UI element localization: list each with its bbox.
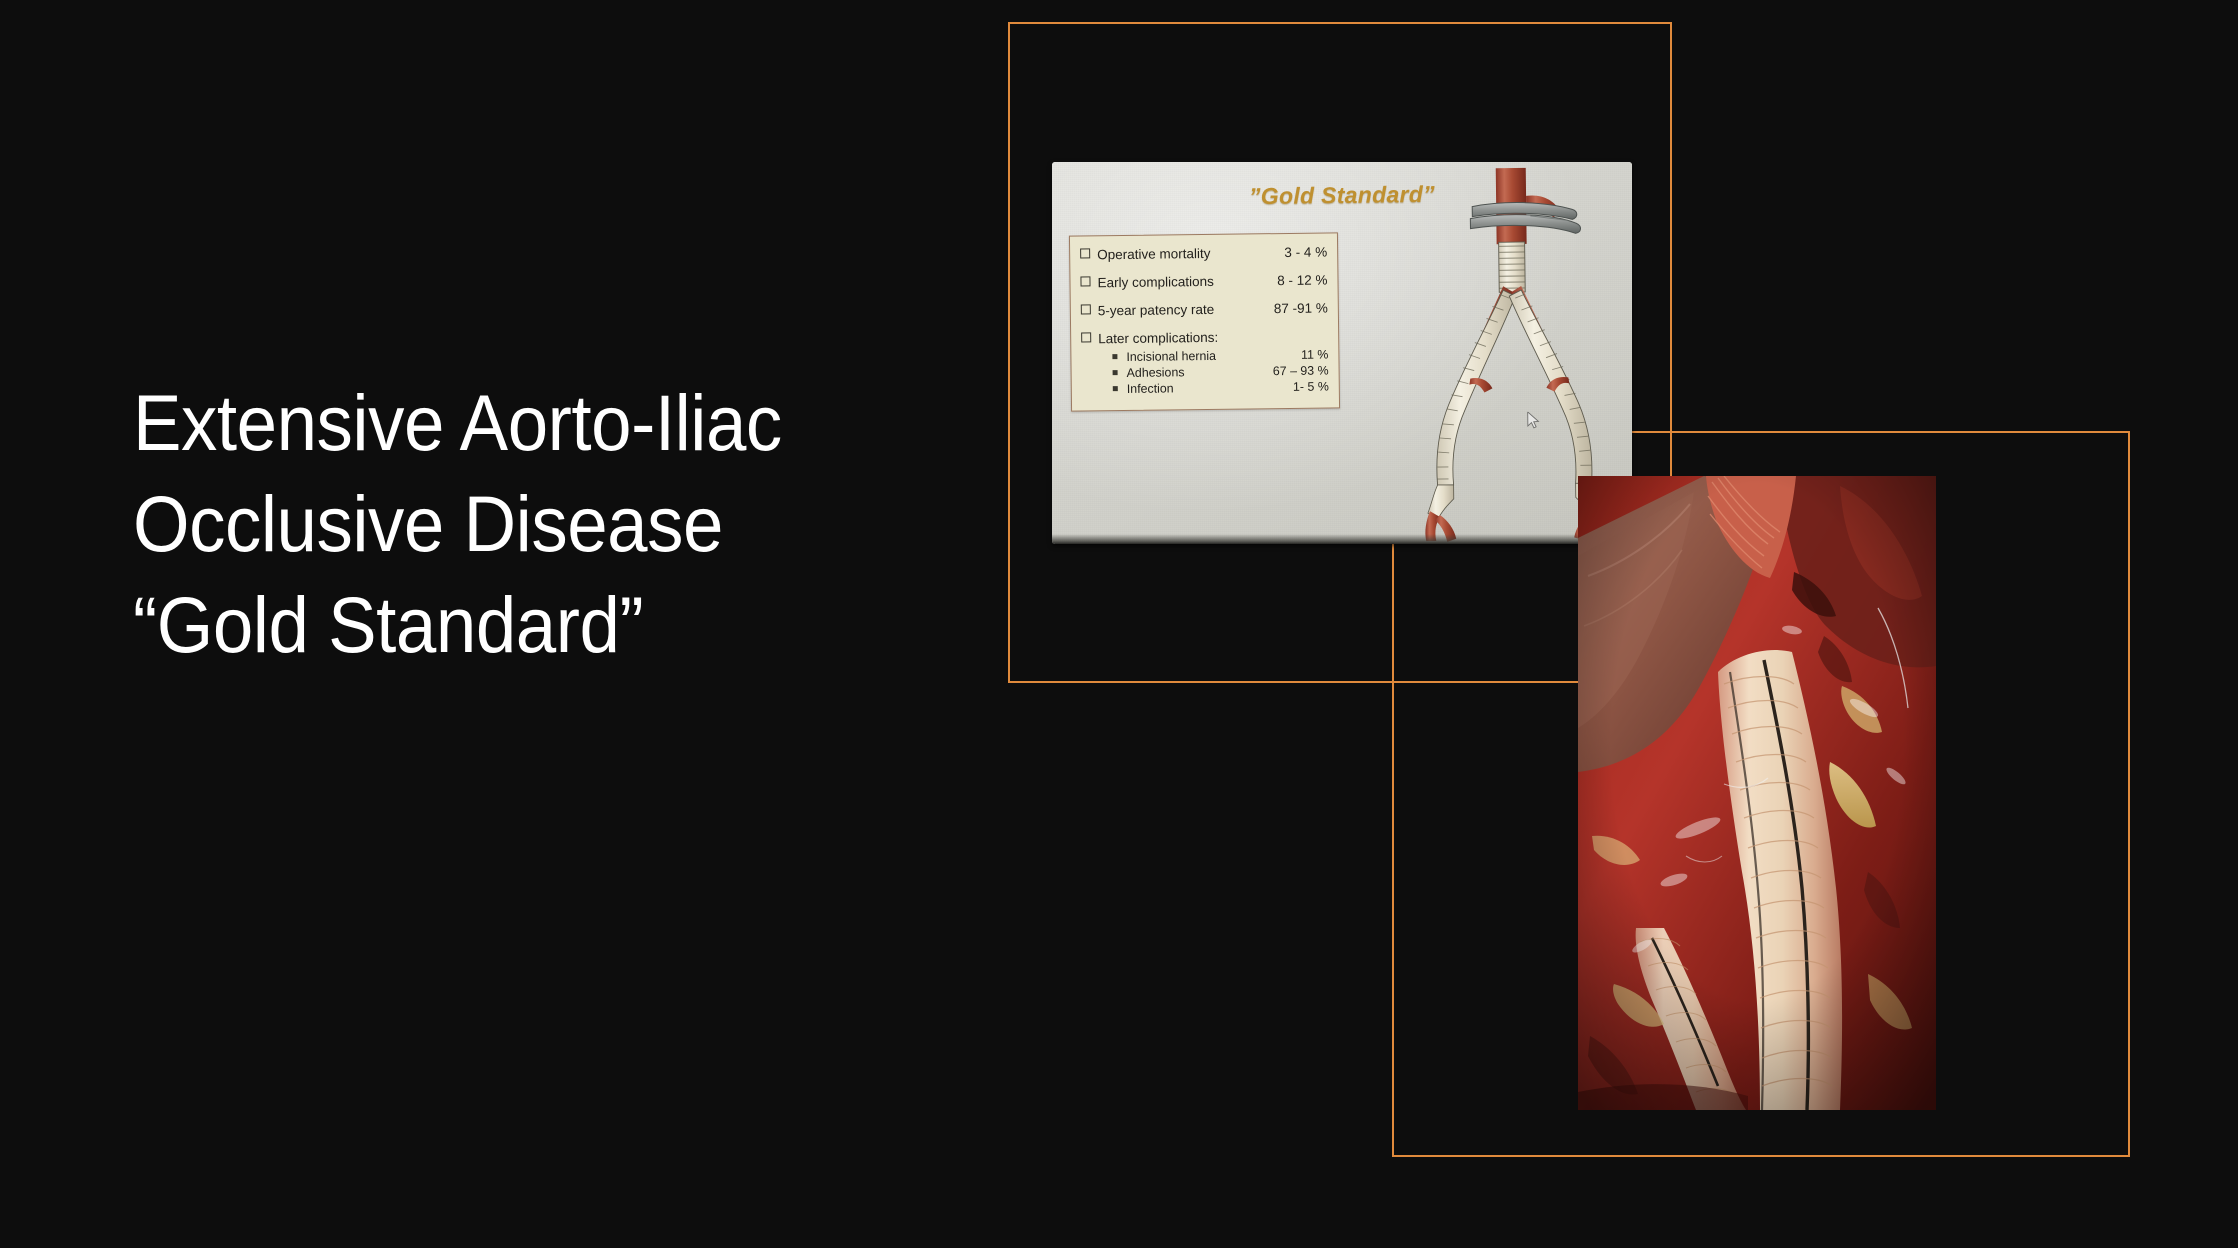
later-complications-group: Later complications: Incisional hernia 1… xyxy=(1081,328,1329,396)
photographed-slide-image[interactable]: ”Gold Standard” Operative mortality 3 - … xyxy=(1052,162,1632,544)
stat-row: Early complications 8 - 12 % xyxy=(1080,272,1327,290)
sub-stat-row: Infection 1- 5 % xyxy=(1113,379,1329,396)
sub-stat-value: 1- 5 % xyxy=(1267,379,1329,394)
checkbox-bullet-icon xyxy=(1081,332,1091,342)
sub-stat-row: Incisional hernia 11 % xyxy=(1112,347,1328,364)
title-line-2: Occlusive Disease xyxy=(133,473,851,574)
square-bullet-icon xyxy=(1112,354,1117,359)
later-complications-heading-row: Later complications: xyxy=(1081,328,1328,346)
sub-stat-label: Infection xyxy=(1127,380,1267,396)
sub-stat-value: 11 % xyxy=(1266,347,1328,362)
stat-row: Operative mortality 3 - 4 % xyxy=(1080,244,1327,262)
square-bullet-icon xyxy=(1113,370,1118,375)
page-title: Extensive Aorto-Iliac Occlusive Disease … xyxy=(133,372,913,675)
mouse-pointer-arrow xyxy=(1527,412,1540,429)
checkbox-bullet-icon xyxy=(1080,276,1090,286)
stat-value: 8 - 12 % xyxy=(1269,272,1327,288)
stat-value: 3 - 4 % xyxy=(1276,244,1327,260)
stat-value: 87 -91 % xyxy=(1266,300,1328,316)
sub-stat-row: Adhesions 67 – 93 % xyxy=(1113,363,1329,380)
statistics-box: Operative mortality 3 - 4 % Early compli… xyxy=(1069,232,1340,411)
stat-row: 5-year patency rate 87 -91 % xyxy=(1081,300,1328,318)
title-line-1: Extensive Aorto-Iliac xyxy=(133,372,851,473)
title-line-3: “Gold Standard” xyxy=(133,574,851,675)
presentation-slide: Extensive Aorto-Iliac Occlusive Disease … xyxy=(0,0,2238,1248)
checkbox-bullet-icon xyxy=(1080,248,1090,258)
stat-label: Operative mortality xyxy=(1097,245,1276,262)
stat-label: 5-year patency rate xyxy=(1098,301,1266,318)
sub-stat-value: 67 – 93 % xyxy=(1267,363,1329,378)
later-complications-heading: Later complications: xyxy=(1098,330,1218,346)
intraoperative-aortic-graft-photograph[interactable] xyxy=(1578,476,1936,1110)
stat-label: Early complications xyxy=(1097,273,1269,290)
sub-stat-label: Incisional hernia xyxy=(1126,348,1266,364)
sub-stat-label: Adhesions xyxy=(1127,364,1267,380)
square-bullet-icon xyxy=(1113,386,1118,391)
checkbox-bullet-icon xyxy=(1081,304,1091,314)
